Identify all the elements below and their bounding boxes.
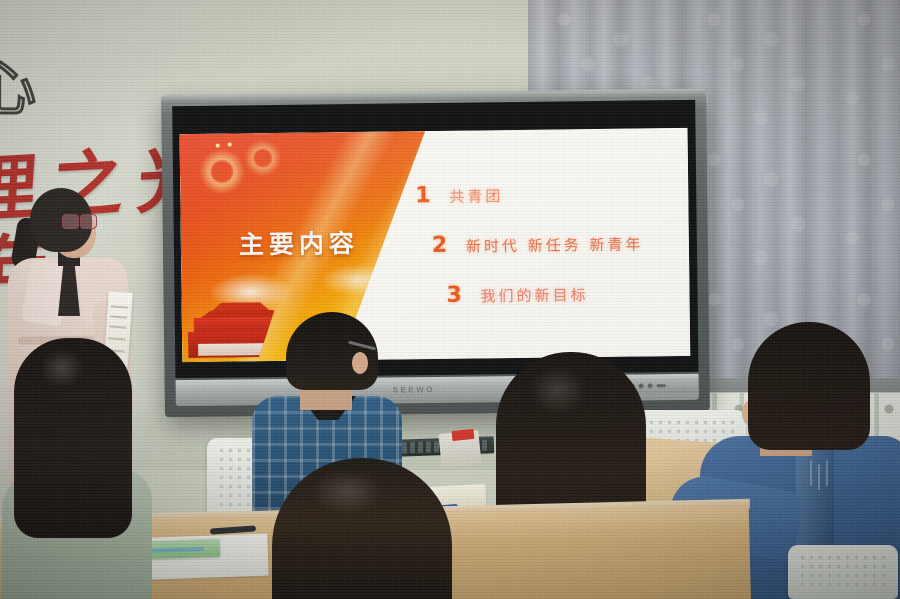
display-brand-logo: SEEWO — [393, 385, 435, 395]
home-button-icon[interactable] — [657, 384, 666, 387]
list-item-label: 我们的新目标 — [480, 284, 588, 306]
spark-dot-icon — [216, 144, 220, 148]
slide-title: 主要内容 — [239, 224, 359, 261]
spark-dot-icon — [228, 142, 232, 146]
smart-display[interactable]: 主要内容 1 共青团 2 新时代 新任务 新青年 3 我们的新目标 — [161, 89, 710, 418]
attendee-hair — [748, 322, 870, 450]
attendee-ear — [352, 352, 368, 374]
list-item-label: 新时代 新任务 新青年 — [466, 233, 644, 256]
list-item: 1 共青团 — [415, 180, 680, 208]
volume-down-button-icon[interactable] — [639, 383, 644, 388]
list-item-number: 2 — [432, 233, 466, 258]
volume-up-button-icon[interactable] — [648, 383, 653, 388]
presentation-slide: 主要内容 1 共青团 2 新时代 新任务 新青年 3 我们的新目标 — [180, 128, 691, 362]
slide-agenda-list: 1 共青团 2 新时代 新任务 新青年 3 我们的新目标 — [415, 180, 682, 333]
hair-highlight — [40, 348, 84, 388]
chair — [788, 545, 898, 599]
hair-highlight — [530, 366, 586, 414]
eyeglasses-icon — [62, 214, 96, 227]
list-item-number: 1 — [415, 183, 449, 208]
hair-highlight — [312, 470, 382, 514]
display-screen[interactable]: 主要内容 1 共青团 2 新时代 新任务 新青年 3 我们的新目标 — [180, 128, 691, 362]
list-item: 2 新时代 新任务 新青年 — [432, 230, 681, 258]
list-item-label: 共青团 — [449, 185, 503, 207]
list-item: 3 我们的新目标 — [446, 280, 681, 308]
display-panel: 主要内容 1 共青团 2 新时代 新任务 新青年 3 我们的新目标 — [172, 100, 698, 378]
list-item-number: 3 — [446, 282, 480, 307]
classroom-photo-scene: 心 理之光 年 — [0, 0, 900, 599]
